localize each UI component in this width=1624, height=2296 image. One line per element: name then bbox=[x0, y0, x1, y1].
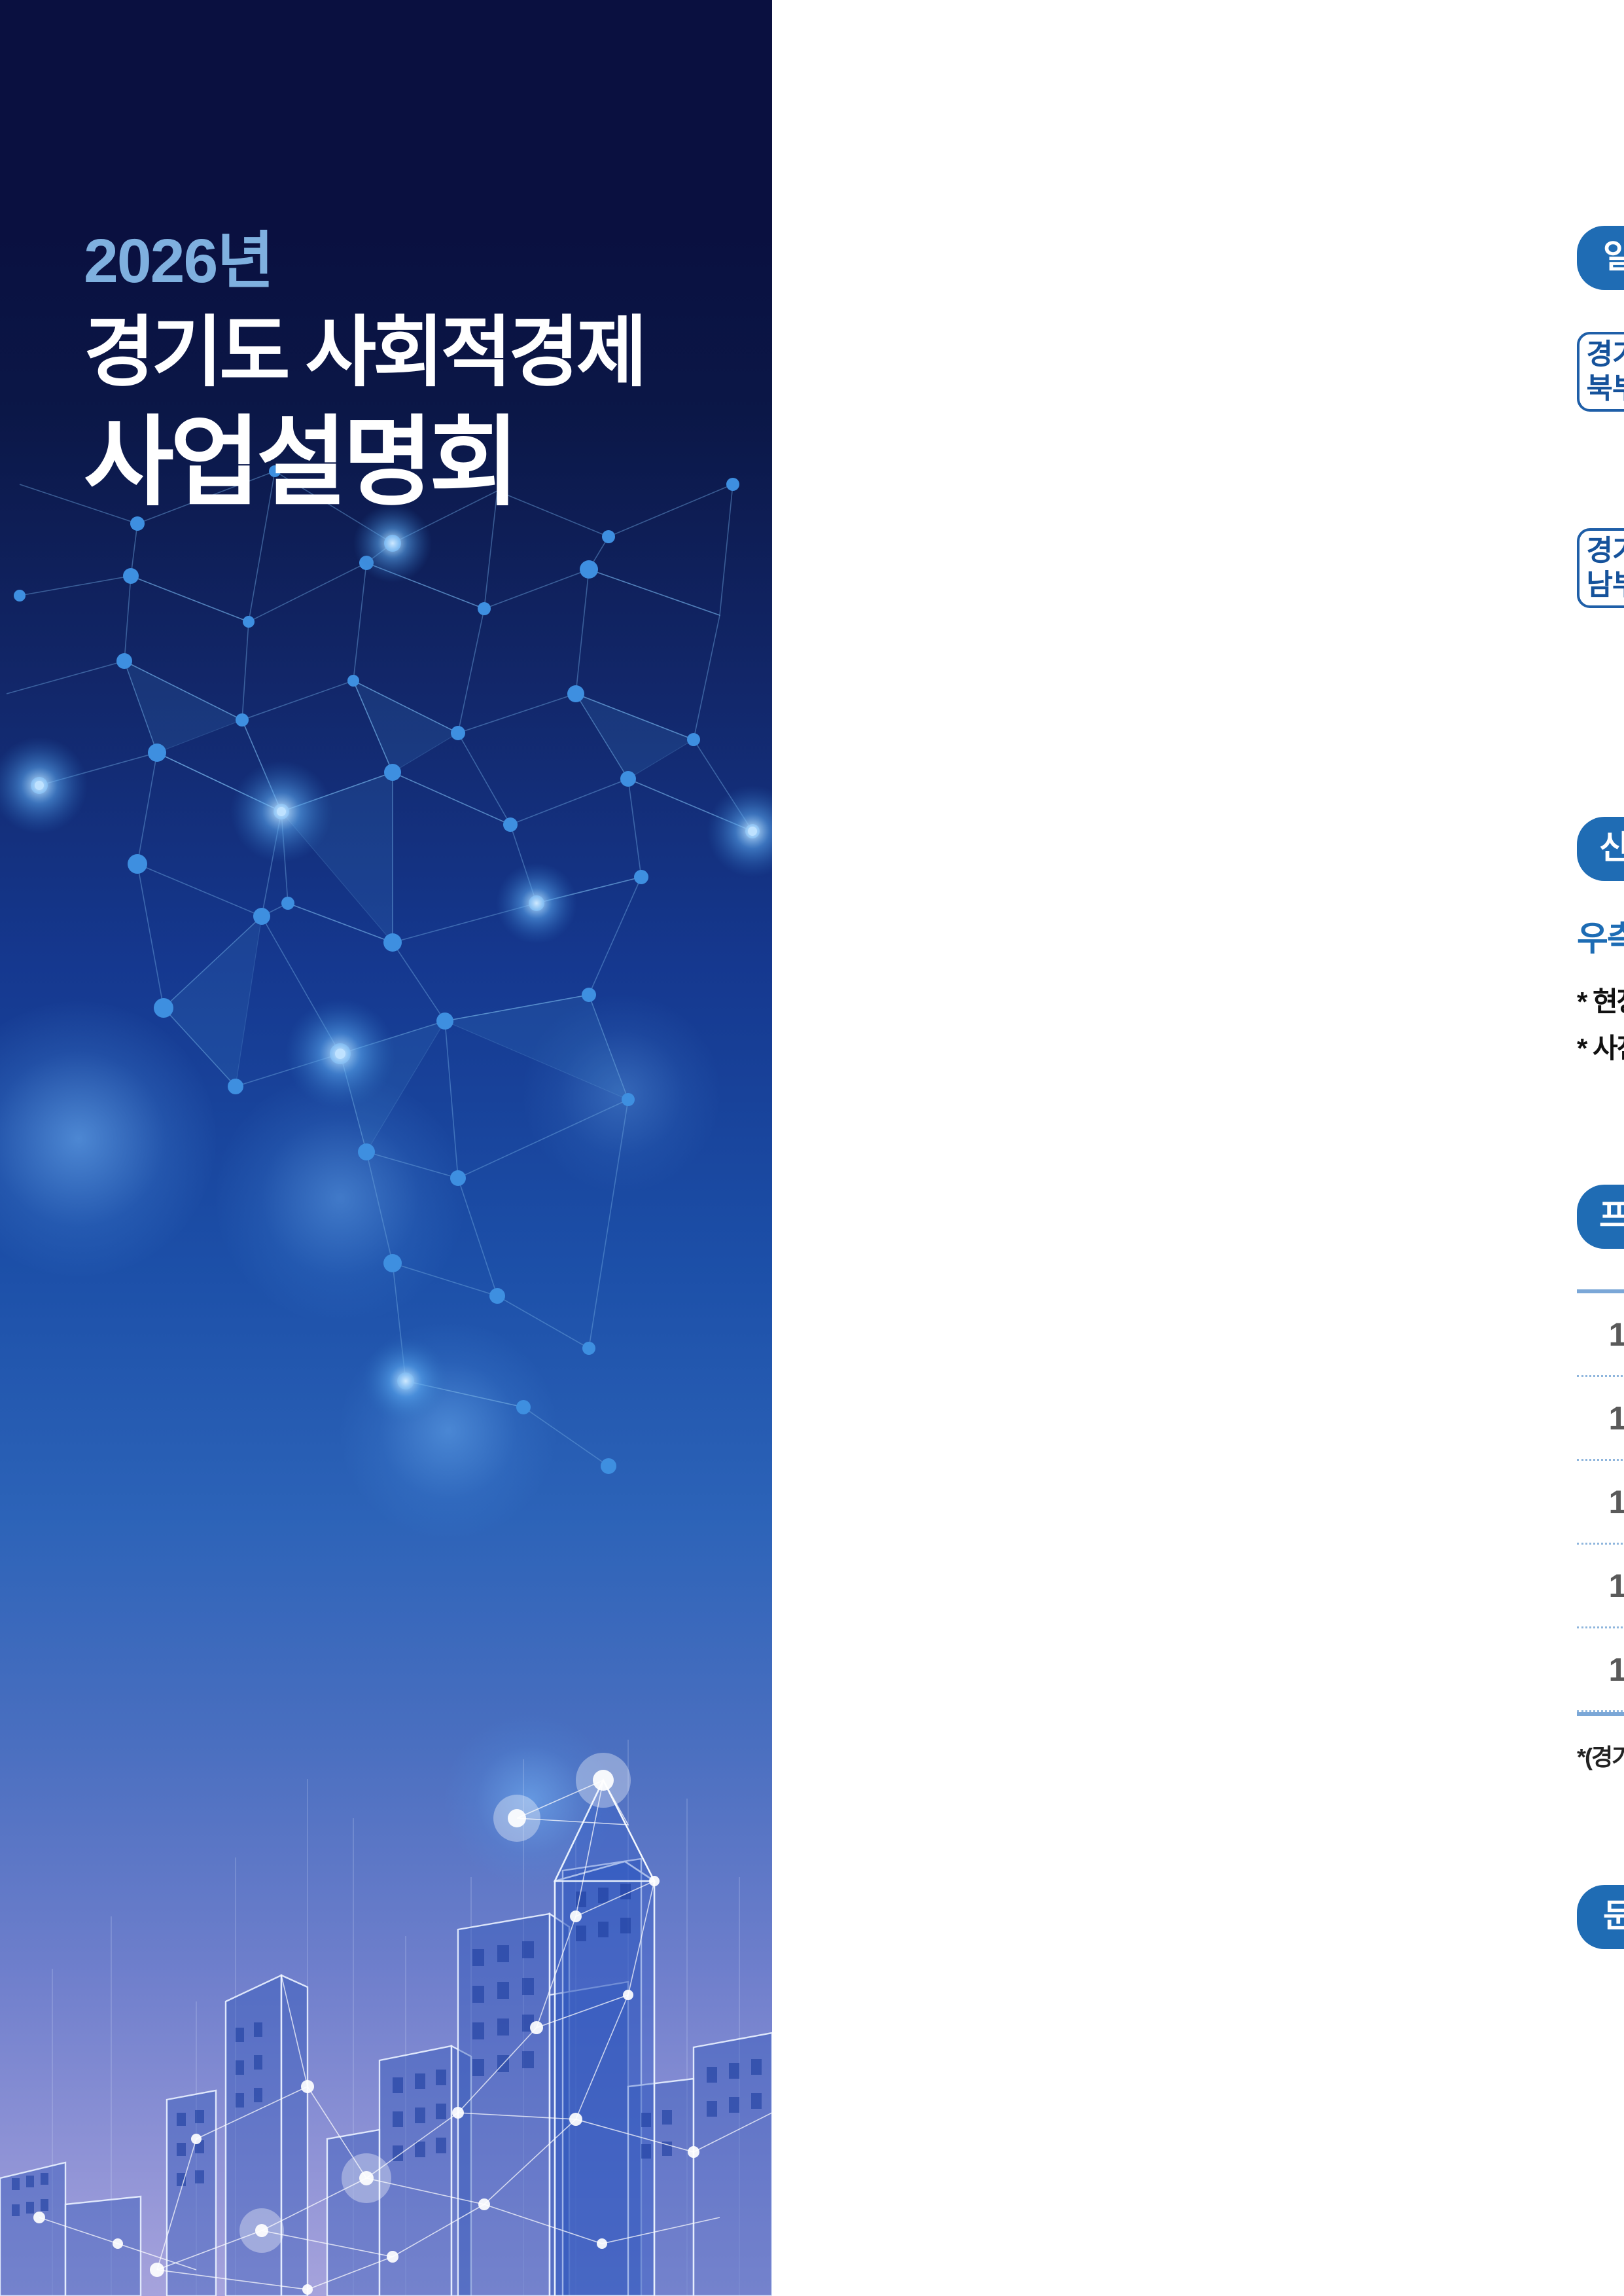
program-time: 14:10~15:50 bbox=[1577, 1483, 1624, 1521]
program-row: 14:10~15:50 ‘26년 주요사업 설명 bbox=[1577, 1461, 1624, 1545]
apply-heading: 신청방법 bbox=[1577, 817, 1624, 881]
apply-main-text: 우측 QR 통해 구글폼 접수 bbox=[1577, 919, 1624, 960]
program-table: 13:30~14:00 참가자 접수 14:00~14:10 개회 및 인사말 … bbox=[1577, 1289, 1624, 1772]
region-badge-line2: 북부 bbox=[1587, 372, 1624, 406]
schedule-entry: 경기 남부 2026. 2. 12.(목) 14:00~17:00 경기도청옛청… bbox=[1577, 526, 1624, 655]
title-line2: 사업설명회 bbox=[84, 404, 644, 520]
apply-note-2: * 사전신청자에 한해 안내문자 발송 bbox=[1577, 1026, 1624, 1072]
apply-note-1: * 현장등록도 가능 bbox=[1577, 979, 1624, 1026]
program-time: 14:00~14:10 bbox=[1577, 1399, 1624, 1437]
region-badge-line1: 경기 bbox=[1587, 338, 1624, 372]
title-year: 2026년 bbox=[84, 229, 644, 295]
region-badge-line1: 경기 bbox=[1587, 534, 1624, 568]
program-footnote: *(경기남부) 행사 종료 후 팀별 상담부스 운영으로 종료 시간이 상이함 bbox=[1577, 1738, 1624, 1772]
program-time: 15:50~16:05 bbox=[1577, 1567, 1624, 1605]
schedule-section: 일 정 경기 북부 2026. 2. 11.(수) 14:00~16:20 경기… bbox=[1577, 226, 1624, 684]
program-section: 프로그램 13:30~14:00 참가자 접수 14:00~14:10 개회 및… bbox=[1577, 1185, 1624, 1772]
poster-title: 2026년 경기도 사회적경제 사업설명회 bbox=[84, 229, 644, 520]
title-line1: 경기도 사회적경제 bbox=[84, 306, 644, 401]
schedule-heading: 일 정 bbox=[1577, 226, 1624, 290]
schedule-rows: 경기 북부 2026. 2. 11.(수) 14:00~16:20 경기도청 북… bbox=[1577, 329, 1624, 655]
program-rule-bottom bbox=[1577, 1712, 1624, 1716]
contact-heading: 문 의 처 bbox=[1577, 1885, 1624, 1949]
region-badge-north: 경기 북부 bbox=[1577, 332, 1624, 412]
cityscape-graphic bbox=[0, 1720, 772, 2296]
right-content-panel: 일 정 경기 북부 2026. 2. 11.(수) 14:00~16:20 경기… bbox=[772, 0, 1624, 2296]
apply-section: 신청방법 우측 QR 통해 구글폼 접수 * 현장등록도 가능 * 사전신청자에… bbox=[1577, 817, 1624, 1071]
program-row: 15:50~16:05 질의응답 bbox=[1577, 1545, 1624, 1628]
program-heading: 프로그램 bbox=[1577, 1185, 1624, 1249]
region-badge-line2: 남부 bbox=[1587, 568, 1624, 602]
program-row: 14:00~14:10 개회 및 인사말 bbox=[1577, 1377, 1624, 1461]
program-time: 13:30~14:00 bbox=[1577, 1316, 1624, 1354]
apply-notes: * 현장등록도 가능 * 사전신청자에 한해 안내문자 발송 bbox=[1577, 979, 1624, 1071]
poster-root: 2026년 경기도 사회적경제 사업설명회 일 정 경기 북부 2026. 2.… bbox=[0, 0, 1624, 2296]
schedule-entry: 경기 북부 2026. 2. 11.(수) 14:00~16:20 경기도청 북… bbox=[1577, 329, 1624, 497]
program-time: 16:05~16:10 bbox=[1577, 1651, 1624, 1689]
program-row: 13:30~14:00 참가자 접수 bbox=[1577, 1293, 1624, 1377]
left-visual-panel: 2026년 경기도 사회적경제 사업설명회 bbox=[0, 0, 772, 2296]
contact-section: 문 의 처 경기도사회적경제원 성장지원팀 031-258-3259 bbox=[1577, 1885, 1624, 1990]
network-graphic bbox=[0, 445, 772, 1558]
region-badge-south: 경기 남부 bbox=[1577, 528, 1624, 608]
program-row: 16:05~16:10 행사 폐회 bbox=[1577, 1628, 1624, 1712]
